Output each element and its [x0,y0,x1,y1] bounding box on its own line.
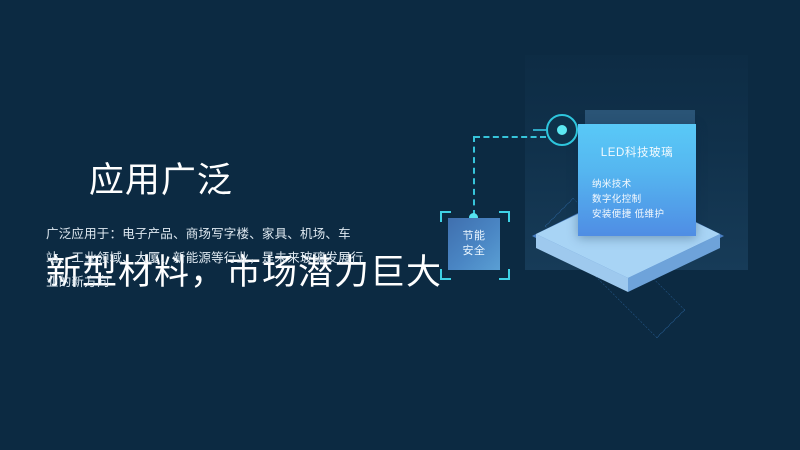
body-paragraph: 广泛应用于：电子产品、商场写字楼、家具、机场、车站、工业领域、大厦、新能源等行业… [46,222,376,294]
panel-feature-item: 数字化控制 [592,192,664,207]
connector-line-horizontal [474,136,546,138]
headline-line-1: 应用广泛 [89,161,233,200]
feature-badge: 节能 安全 [448,218,500,270]
panel-feature-item: 纳米技术 [592,177,664,192]
badge-label-line-1: 节能 [463,229,486,244]
badge-label-line-2: 安全 [463,244,486,259]
connector-line-vertical [473,136,475,216]
connector-stub [533,129,546,131]
led-glass-panel: LED科技玻璃 纳米技术 数字化控制 安装便捷 低维护 [578,124,696,236]
slide-canvas: 应用广泛 新型材料，市场潜力巨大 广泛应用于：电子产品、商场写字楼、家具、机场、… [0,0,800,450]
badge-corner-bottom-right [499,269,510,280]
badge-corner-bottom-left [440,269,451,280]
illustration-group: LED科技玻璃 纳米技术 数字化控制 安装便捷 低维护 节能 安全 [420,0,800,450]
connector-node-core-icon [557,125,567,135]
panel-title: LED科技玻璃 [578,144,696,160]
panel-feature-list: 纳米技术 数字化控制 安装便捷 低维护 [592,177,664,222]
panel-feature-item: 安装便捷 低维护 [592,207,664,222]
badge-corner-top-right [499,211,510,222]
